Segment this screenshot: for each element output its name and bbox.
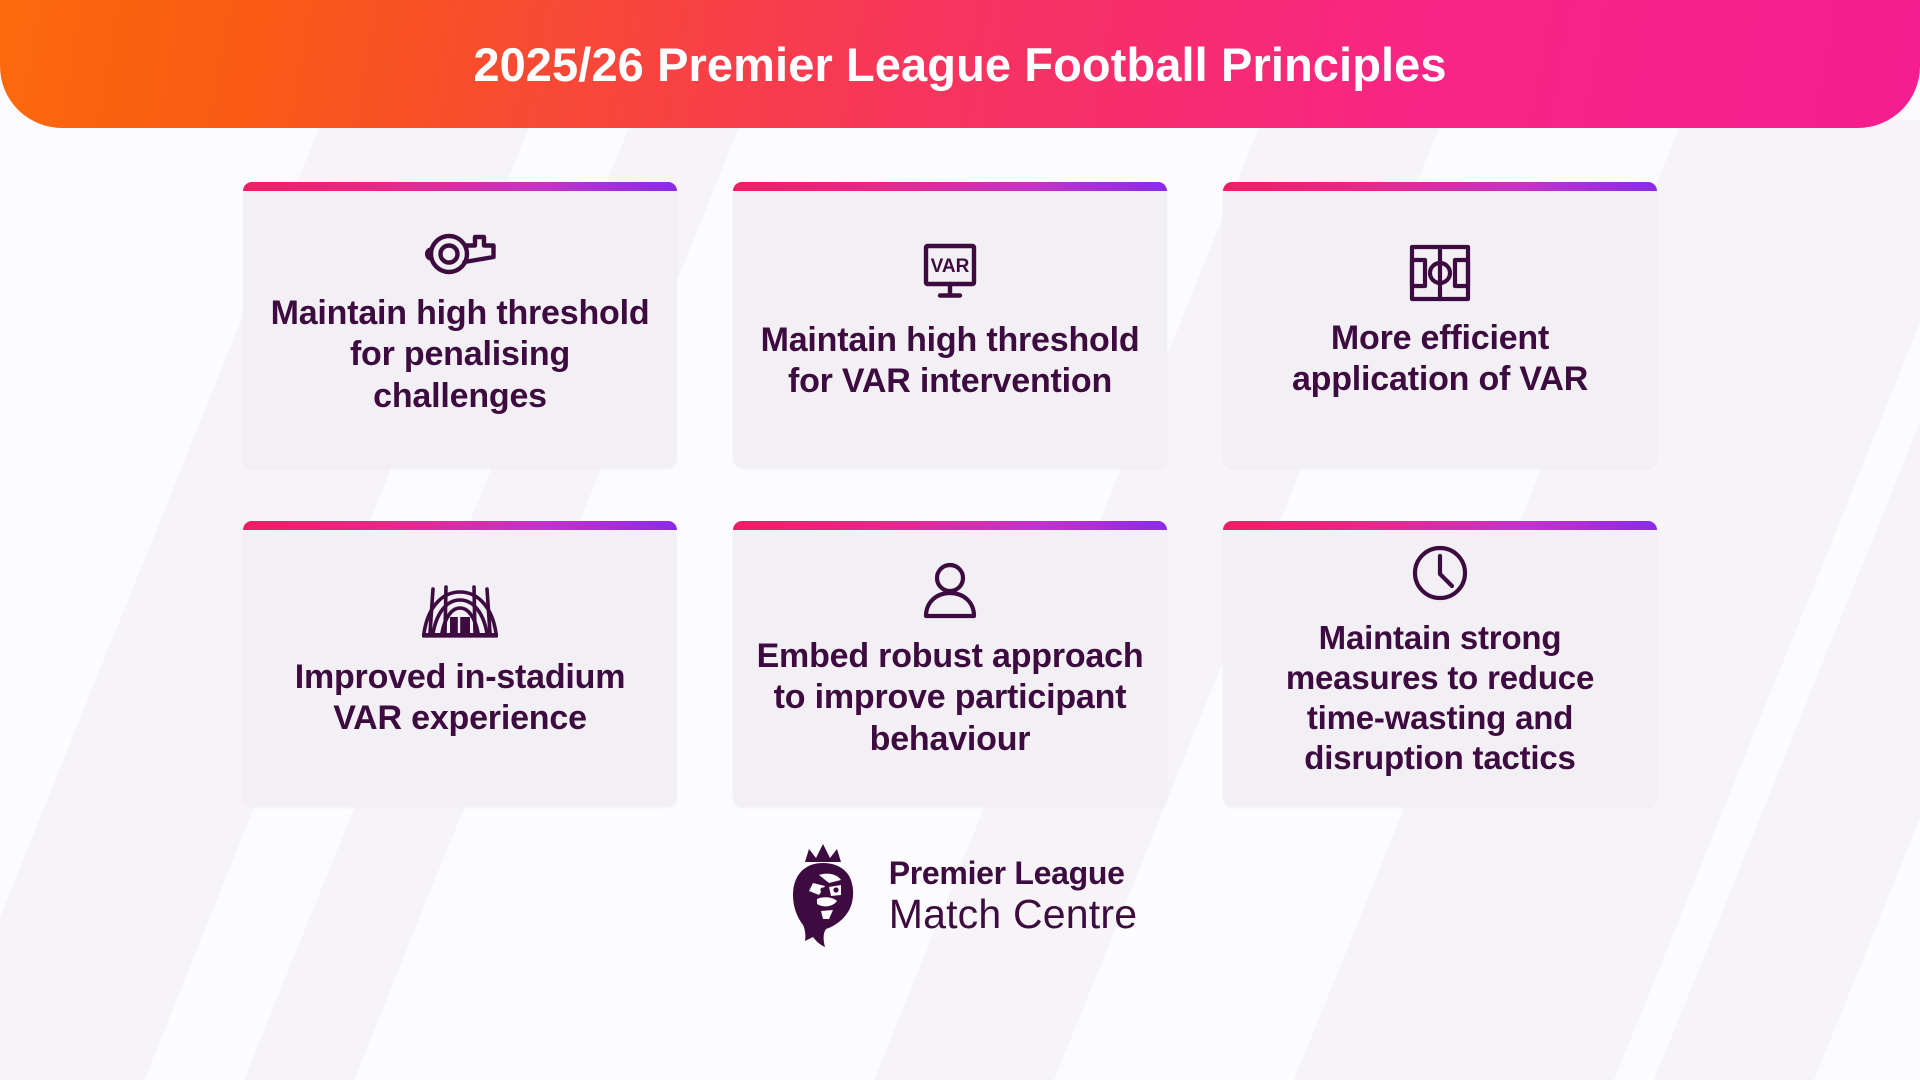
stadium-icon xyxy=(418,583,502,641)
clock-icon xyxy=(1411,544,1469,602)
card-accent-bar xyxy=(1223,182,1657,191)
card-accent-bar xyxy=(243,182,677,191)
page-title: 2025/26 Premier League Football Principl… xyxy=(473,37,1446,92)
football-pitch-icon xyxy=(1409,244,1471,302)
brand-line-premier-league: Premier League xyxy=(889,857,1138,889)
person-icon xyxy=(922,562,978,620)
var-monitor-icon: VAR xyxy=(918,242,982,304)
principle-card-6[interactable]: Maintain strong measures to reduce time-… xyxy=(1223,521,1657,807)
principle-card-4[interactable]: Improved in-stadium VAR experience xyxy=(243,521,677,807)
principles-grid: Maintain high threshold for penalising c… xyxy=(243,128,1677,807)
principle-card-text: Maintain strong measures to reduce time-… xyxy=(1245,618,1635,779)
card-accent-bar xyxy=(733,182,1167,191)
principle-card-text: Maintain high threshold for VAR interven… xyxy=(755,320,1145,403)
whistle-icon xyxy=(423,227,497,277)
principle-card-5[interactable]: Embed robust approach to improve partici… xyxy=(733,521,1167,807)
card-accent-bar xyxy=(1223,521,1657,530)
page-header: 2025/26 Premier League Football Principl… xyxy=(0,0,1920,128)
var-icon-label: VAR xyxy=(931,256,970,277)
footer-branding: Premier League Match Centre xyxy=(0,841,1920,951)
principle-card-3[interactable]: More efficient application of VAR xyxy=(1223,182,1657,468)
principle-card-text: More efficient application of VAR xyxy=(1245,318,1635,401)
principle-card-text: Improved in-stadium VAR experience xyxy=(265,657,655,740)
brand-wordmark: Premier League Match Centre xyxy=(889,857,1138,935)
principle-card-2[interactable]: VAR Maintain high threshold for VAR inte… xyxy=(733,182,1167,468)
principle-card-text: Maintain high threshold for penalising c… xyxy=(265,293,655,417)
principle-card-1[interactable]: Maintain high threshold for penalising c… xyxy=(243,182,677,468)
premier-league-lion-logo xyxy=(783,841,871,951)
card-accent-bar xyxy=(733,521,1167,530)
card-accent-bar xyxy=(243,521,677,530)
principle-card-text: Embed robust approach to improve partici… xyxy=(755,636,1145,760)
brand-line-match-centre: Match Centre xyxy=(889,894,1138,935)
